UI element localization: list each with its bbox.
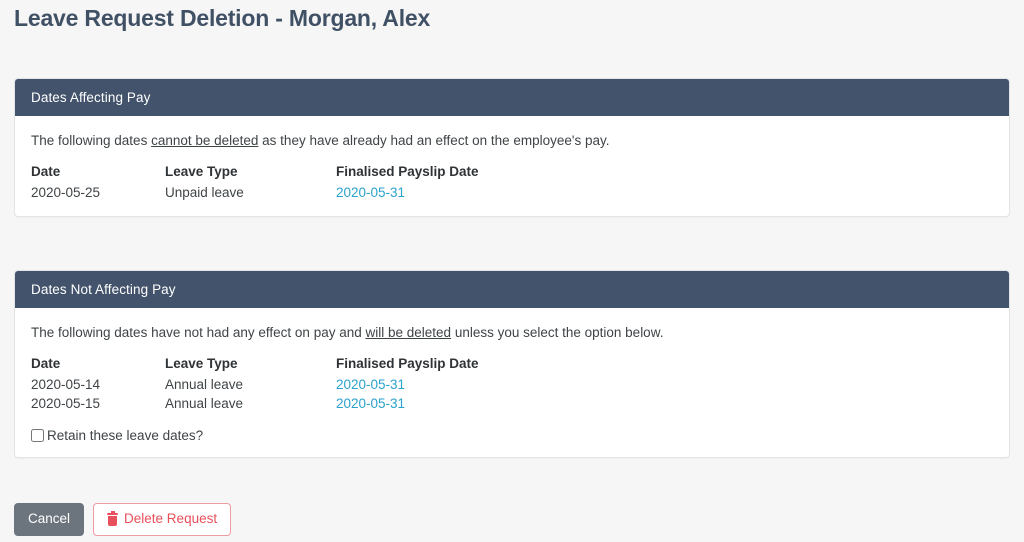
affecting-pay-table: Date Leave Type Finalised Payslip Date 2… (31, 164, 576, 202)
intro-text-emphasis: cannot be deleted (151, 133, 258, 148)
leave-request-deletion-page: Leave Request Deletion - Morgan, Alex Da… (0, 0, 1024, 542)
cell-leave-type: Unpaid leave (165, 183, 336, 202)
table-row: 2020-05-15 Annual leave 2020-05-31 (31, 394, 576, 413)
dates-not-affecting-pay-card: Dates Not Affecting Pay The following da… (14, 270, 1010, 458)
column-header-date: Date (31, 164, 165, 183)
cell-payslip-date: 2020-05-31 (336, 394, 576, 413)
table-row: 2020-05-25 Unpaid leave 2020-05-31 (31, 183, 576, 202)
column-header-leave-type: Leave Type (165, 356, 336, 375)
form-actions: Cancel Delete Request (14, 503, 231, 536)
cell-leave-type: Annual leave (165, 375, 336, 394)
page-title: Leave Request Deletion - Morgan, Alex (14, 5, 430, 32)
cell-leave-type: Annual leave (165, 394, 336, 413)
column-header-finalised-payslip-date: Finalised Payslip Date (336, 164, 576, 183)
payslip-date-link[interactable]: 2020-05-31 (336, 185, 405, 200)
column-header-leave-type: Leave Type (165, 164, 336, 183)
retain-leave-dates-row[interactable]: Retain these leave dates? (31, 428, 993, 443)
cell-date: 2020-05-25 (31, 183, 165, 202)
not-affecting-pay-table: Date Leave Type Finalised Payslip Date 2… (31, 356, 576, 413)
cancel-button[interactable]: Cancel (14, 503, 84, 536)
intro-text-before: The following dates (31, 133, 151, 148)
dates-affecting-pay-card: Dates Affecting Pay The following dates … (14, 78, 1010, 217)
intro-text-emphasis: will be deleted (366, 325, 452, 340)
delete-request-button[interactable]: Delete Request (93, 503, 231, 536)
payslip-date-link[interactable]: 2020-05-31 (336, 396, 405, 411)
table-header-row: Date Leave Type Finalised Payslip Date (31, 356, 576, 375)
intro-text-before: The following dates have not had any eff… (31, 325, 366, 340)
delete-request-label: Delete Request (124, 512, 217, 527)
dates-not-affecting-pay-body: The following dates have not had any eff… (15, 308, 1009, 457)
column-header-date: Date (31, 356, 165, 375)
payslip-date-link[interactable]: 2020-05-31 (336, 377, 405, 392)
trash-icon (107, 513, 118, 526)
table-header-row: Date Leave Type Finalised Payslip Date (31, 164, 576, 183)
dates-affecting-pay-body: The following dates cannot be deleted as… (15, 116, 1009, 216)
intro-text-after: unless you select the option below. (451, 325, 663, 340)
column-header-finalised-payslip-date: Finalised Payslip Date (336, 356, 576, 375)
dates-affecting-pay-header: Dates Affecting Pay (15, 79, 1009, 116)
dates-not-affecting-pay-header: Dates Not Affecting Pay (15, 271, 1009, 308)
dates-not-affecting-pay-intro: The following dates have not had any eff… (31, 324, 993, 342)
cell-payslip-date: 2020-05-31 (336, 375, 576, 394)
cell-date: 2020-05-14 (31, 375, 165, 394)
cell-date: 2020-05-15 (31, 394, 165, 413)
table-row: 2020-05-14 Annual leave 2020-05-31 (31, 375, 576, 394)
cell-payslip-date: 2020-05-31 (336, 183, 576, 202)
intro-text-after: as they have already had an effect on th… (258, 133, 609, 148)
retain-leave-dates-checkbox[interactable] (31, 429, 44, 442)
retain-leave-dates-label: Retain these leave dates? (47, 428, 203, 443)
dates-affecting-pay-intro: The following dates cannot be deleted as… (31, 132, 993, 150)
